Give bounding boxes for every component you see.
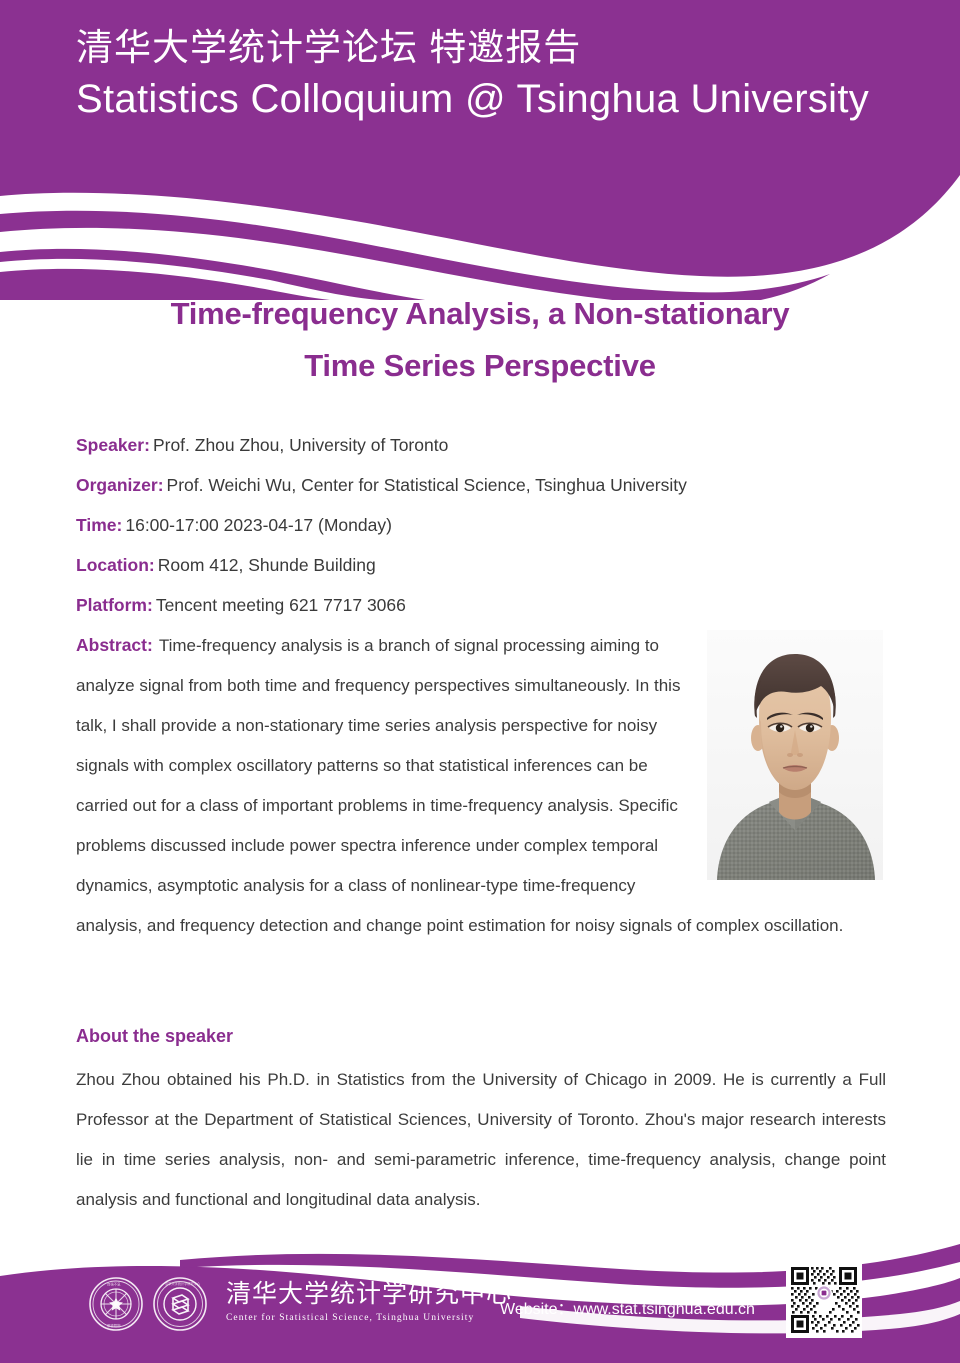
website-url[interactable]: www.stat.tsinghua.edu.cn	[574, 1301, 755, 1318]
time-label: Time:	[76, 515, 122, 535]
detail-row-platform: Platform:Tencent meeting 621 7717 3066	[76, 585, 906, 625]
about-speaker-bio: Zhou Zhou obtained his Ph.D. in Statisti…	[76, 1060, 886, 1220]
talk-title-line-1: Time-frequency Analysis, a Non-stationar…	[50, 288, 910, 340]
portrait-illustration	[707, 630, 883, 880]
detail-row-speaker: Speaker:Prof. Zhou Zhou, University of T…	[76, 425, 906, 465]
location-label: Location:	[76, 555, 155, 575]
talk-title-line-2: Time Series Perspective	[50, 340, 910, 392]
footer-organization: 清华大学统计学研究中心 Center for Statistical Scien…	[226, 1280, 512, 1325]
svg-text:厚德载物: 厚德载物	[107, 1323, 121, 1328]
abstract-label: Abstract:	[76, 635, 153, 655]
detail-row-organizer: Organizer:Prof. Weichi Wu, Center for St…	[76, 465, 906, 505]
time-value: 16:00-17:00 2023-04-17 (Monday)	[125, 515, 392, 535]
svg-text:自强不息: 自强不息	[107, 1282, 121, 1287]
qr-code-icon[interactable]	[786, 1262, 862, 1338]
speaker-portrait-photo	[707, 630, 883, 880]
platform-value: Tencent meeting 621 7717 3066	[156, 595, 406, 615]
header-title-chinese: 清华大学统计学论坛 特邀报告	[76, 24, 869, 72]
organizer-label: Organizer:	[76, 475, 164, 495]
speaker-label: Speaker:	[76, 435, 150, 455]
header-title-english: Statistics Colloquium @ Tsinghua Univers…	[76, 74, 869, 124]
poster-header: 清华大学统计学论坛 特邀报告 Statistics Colloquium @ T…	[0, 0, 960, 300]
website-label: Website：	[500, 1301, 574, 1318]
center-for-statistical-science-logo-icon: 清华大学统计学研究中心	[152, 1276, 208, 1332]
platform-label: Platform:	[76, 595, 153, 615]
poster-footer: 自强不息 厚德载物 清华大学统计学研究中心 清华大学统计学研究中心 Center…	[0, 1238, 960, 1363]
svg-text:清华大学统计学研究中心: 清华大学统计学研究中心	[165, 1281, 201, 1286]
speaker-value: Prof. Zhou Zhou, University of Toronto	[153, 435, 448, 455]
organizer-value: Prof. Weichi Wu, Center for Statistical …	[167, 475, 687, 495]
about-speaker-heading: About the speaker	[76, 1026, 233, 1047]
header-title-group: 清华大学统计学论坛 特邀报告 Statistics Colloquium @ T…	[76, 24, 869, 124]
tsinghua-university-seal-icon: 自强不息 厚德载物	[88, 1276, 144, 1332]
detail-row-location: Location:Room 412, Shunde Building	[76, 545, 906, 585]
event-details: Speaker:Prof. Zhou Zhou, University of T…	[76, 425, 906, 625]
talk-title: Time-frequency Analysis, a Non-stationar…	[50, 288, 910, 392]
footer-org-chinese: 清华大学统计学研究中心	[226, 1280, 512, 1308]
location-value: Room 412, Shunde Building	[158, 555, 376, 575]
footer-website: Website：www.stat.tsinghua.edu.cn	[500, 1295, 755, 1319]
qr-code[interactable]	[786, 1262, 862, 1338]
footer-org-english: Center for Statistical Science, Tsinghua…	[226, 1311, 512, 1325]
footer-content: 自强不息 厚德载物 清华大学统计学研究中心 清华大学统计学研究中心 Center…	[0, 1238, 960, 1363]
detail-row-time: Time:16:00-17:00 2023-04-17 (Monday)	[76, 505, 906, 545]
